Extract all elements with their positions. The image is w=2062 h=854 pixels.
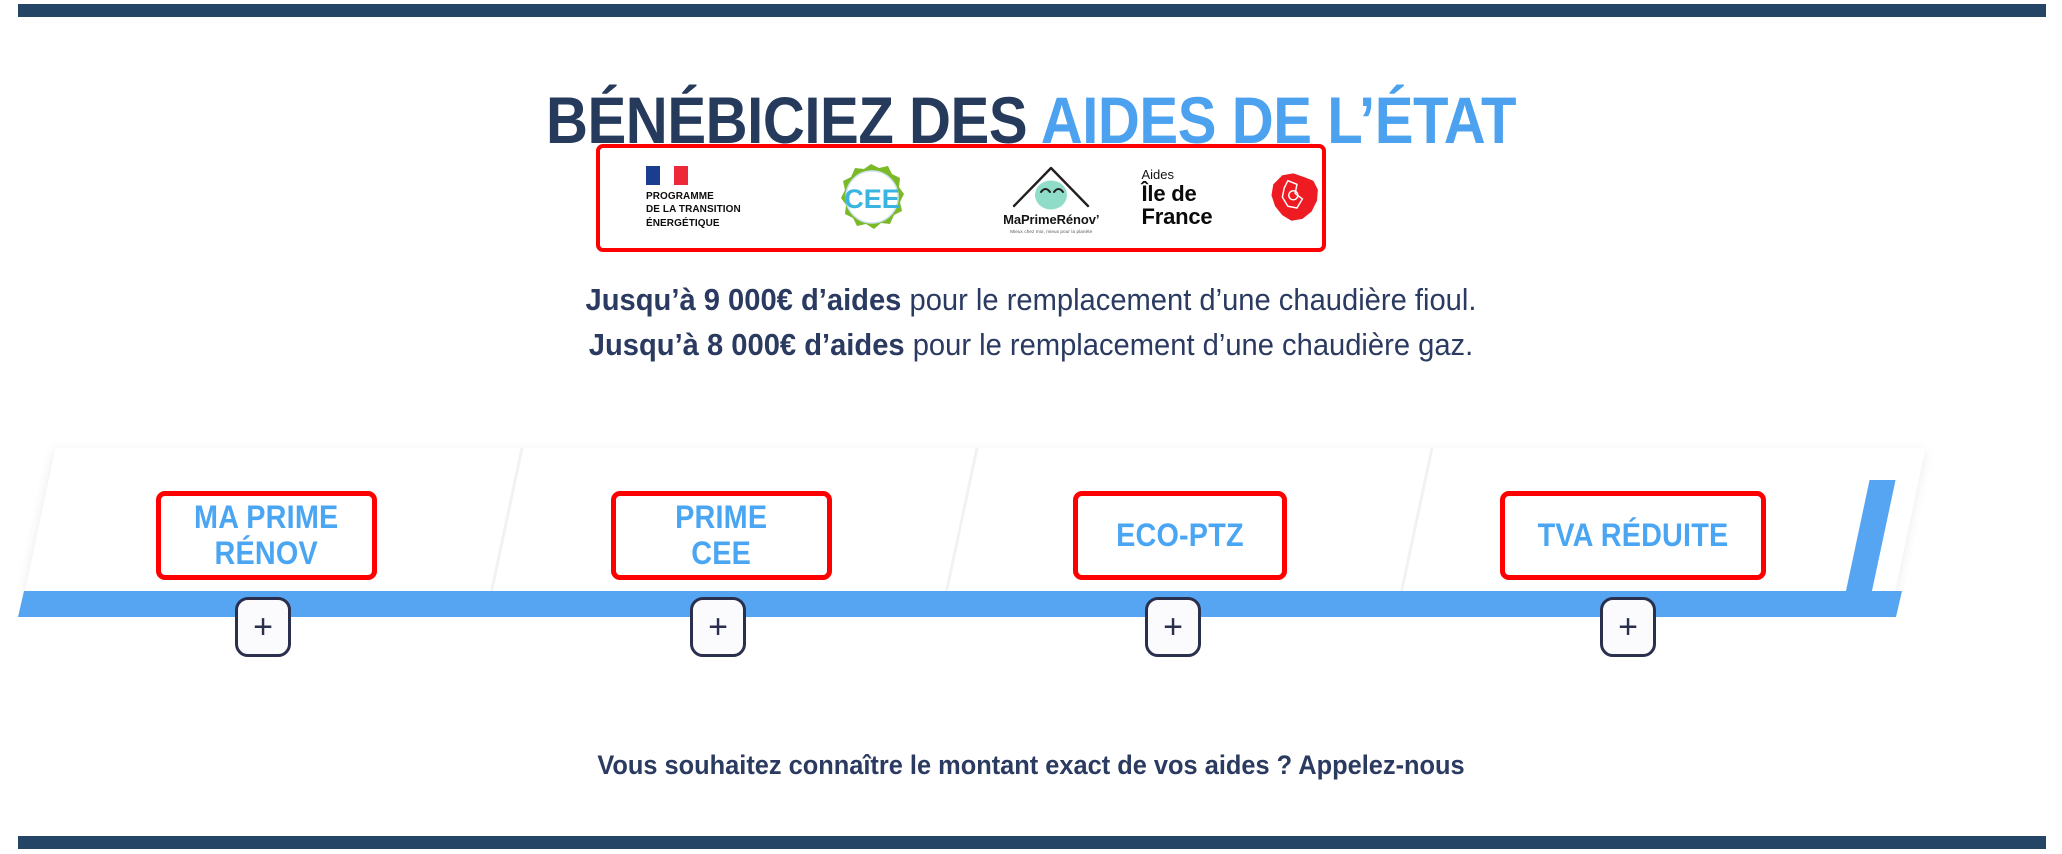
aid-badge-ma-prime-renov-line2: RÉNOV (194, 536, 338, 572)
footer-question: Vous souhaitez connaître le montant exac… (62, 750, 2000, 781)
aid-badge-prime-cee-line1: PRIME (675, 500, 767, 536)
maprimerenov-name: MaPrimeRénov’ (1003, 212, 1099, 227)
bottom-accent-bar (18, 836, 2046, 849)
cee-logo: CEE (835, 162, 907, 234)
expand-button-ma-prime-renov[interactable]: + (235, 597, 291, 657)
aid-amount-gaz-strong: Jusqu’à 8 000€ d’aides (589, 327, 905, 362)
aid-badge-prime-cee-line2: CEE (675, 536, 767, 572)
aid-badge-tva-reduite-label: TVA RÉDUITE (1538, 518, 1729, 554)
programme-line-1: PROGRAMME (646, 190, 741, 203)
logo-cell-maprimerenov: MaPrimeRénov’ Mieux chez moi, mieux pour… (961, 148, 1142, 248)
aid-badge-prime-cee[interactable]: PRIME CEE (611, 491, 832, 580)
partner-logo-strip: PROGRAMME DE LA TRANSITION ÉNERGÉTIQUE C… (596, 144, 1326, 252)
idf-small-label: Aides (1142, 168, 1262, 182)
idf-big-label: Île de France (1142, 182, 1262, 228)
plus-icon: + (253, 610, 273, 644)
programme-transition-energetique-logo: PROGRAMME DE LA TRANSITION ÉNERGÉTIQUE (634, 166, 746, 230)
plus-icon: + (1163, 610, 1183, 644)
svg-text:CEE: CEE (844, 184, 900, 214)
logo-cell-ile-de-france: Aides Île de France (1142, 148, 1323, 248)
programme-line-2: DE LA TRANSITION (646, 203, 741, 216)
cee-badge-icon: CEE (835, 162, 907, 234)
plus-icon: + (708, 610, 728, 644)
logo-cell-cee: CEE (781, 148, 962, 248)
house-roof-smiley-icon (1010, 162, 1092, 210)
idf-text-block: Aides Île de France (1142, 168, 1262, 228)
aid-amount-line-fioul: Jusqu’à 9 000€ d’aides pour le remplacem… (62, 278, 2000, 323)
programme-line-3: ÉNERGÉTIQUE (646, 217, 741, 230)
maprimerenov-tagline: Mieux chez moi, mieux pour la planète (1010, 229, 1092, 234)
maprimerenov-logo: MaPrimeRénov’ Mieux chez moi, mieux pour… (981, 162, 1121, 234)
aid-amount-fioul-strong: Jusqu’à 9 000€ d’aides (586, 282, 902, 317)
top-accent-bar (18, 4, 2046, 17)
plus-icon: + (1618, 610, 1638, 644)
expand-button-tva-reduite[interactable]: + (1600, 597, 1656, 657)
aid-badge-eco-ptz[interactable]: ECO-PTZ (1073, 491, 1287, 580)
aid-badge-eco-ptz-label: ECO-PTZ (1116, 518, 1244, 554)
expand-button-prime-cee[interactable]: + (690, 597, 746, 657)
logo-cell-programme: PROGRAMME DE LA TRANSITION ÉNERGÉTIQUE (600, 148, 781, 248)
french-flag-icon (646, 166, 688, 185)
aid-amount-gaz-rest: pour le remplacement d’une chaudière gaz… (905, 327, 1474, 362)
expand-button-eco-ptz[interactable]: + (1145, 597, 1201, 657)
aid-amount-lines: Jusqu’à 9 000€ d’aides pour le remplacem… (0, 278, 2062, 368)
aid-amount-line-gaz: Jusqu’à 8 000€ d’aides pour le remplacem… (62, 323, 2000, 368)
aid-amount-fioul-rest: pour le remplacement d’une chaudière fio… (901, 282, 1476, 317)
ile-de-france-map-icon (1266, 169, 1322, 227)
aides-ile-de-france-logo: Aides Île de France (1142, 168, 1323, 228)
aid-badge-tva-reduite[interactable]: TVA RÉDUITE (1500, 491, 1766, 580)
programme-logo-text: PROGRAMME DE LA TRANSITION ÉNERGÉTIQUE (646, 190, 741, 230)
aid-badge-ma-prime-renov[interactable]: MA PRIME RÉNOV (156, 491, 377, 580)
aid-badge-ma-prime-renov-line1: MA PRIME (194, 500, 338, 536)
